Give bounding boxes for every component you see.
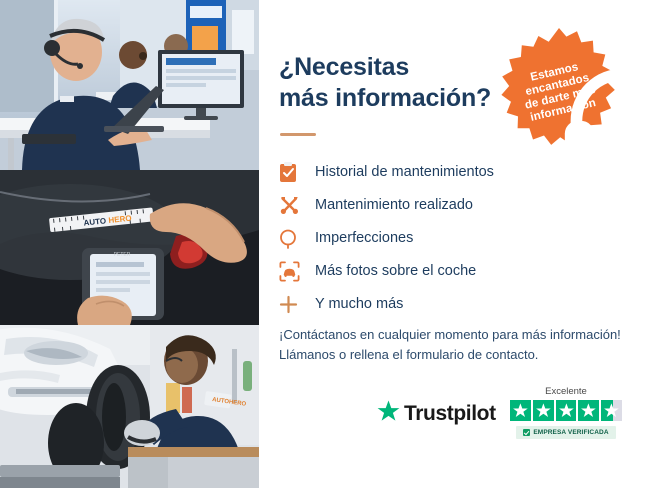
feature-label: Imperfecciones <box>315 231 413 246</box>
wrench-screwdriver-icon <box>279 195 315 216</box>
star-filled <box>578 400 599 421</box>
mechanic-wheel-photo: AUTOHERO <box>0 325 259 488</box>
support-badge: Estamos encantados de darte más informac… <box>495 26 623 154</box>
inspection-illustration: AUTO HERO PETER <box>0 170 259 325</box>
verified-check-icon <box>523 429 530 436</box>
trustpilot-widget[interactable]: Trustpilot Excelente <box>377 386 632 448</box>
feature-label: Más fotos sobre el coche <box>315 264 476 279</box>
car-inspection-ruler-photo: AUTO HERO PETER <box>0 170 259 325</box>
feature-item-mantenimiento: Mantenimiento realizado <box>279 189 569 222</box>
feature-list: Historial de mantenimientos M <box>279 156 569 321</box>
verified-business-label: EMPRESA VERIFICADA <box>533 429 608 436</box>
page-title: ¿Necesitas más información? <box>279 52 529 113</box>
feature-item-historial: Historial de mantenimientos <box>279 156 569 189</box>
trustpilot-rating: Excelente <box>501 386 631 439</box>
feature-item-mas: Y mucho más <box>279 288 569 321</box>
trustpilot-rating-label: Excelente <box>510 386 622 397</box>
mechanic-illustration: AUTOHERO <box>0 325 259 488</box>
call-center-agents-photo <box>0 0 259 170</box>
star-filled <box>533 400 554 421</box>
page-title-line2: más información? <box>279 83 529 114</box>
feature-label: Historial de mantenimientos <box>315 165 494 180</box>
plus-icon <box>279 295 315 314</box>
svg-text:PETER: PETER <box>114 252 131 258</box>
feature-label: Y mucho más <box>315 297 403 312</box>
contact-paragraph-line1: ¡Contáctanos en cualquier momento para m… <box>279 325 639 345</box>
content-panel: ¿Necesitas más información? Estamos enca… <box>259 0 650 488</box>
star-half <box>601 400 622 421</box>
title-divider <box>280 133 316 136</box>
magnifier-icon <box>279 229 315 249</box>
contact-paragraph-line2: Llámanos o rellena el formulario de cont… <box>279 345 639 365</box>
feature-item-fotos: Más fotos sobre el coche <box>279 255 569 288</box>
contact-paragraph: ¡Contáctanos en cualquier momento para m… <box>279 325 639 365</box>
clipboard-check-icon <box>279 162 315 183</box>
feature-label: Mantenimiento realizado <box>315 198 473 213</box>
verified-business-badge: EMPRESA VERIFICADA <box>516 426 616 439</box>
feature-item-imperfecciones: Imperfecciones <box>279 222 569 255</box>
promo-card: AUTO HERO PETER <box>0 0 650 488</box>
call-center-illustration <box>0 0 259 170</box>
trustpilot-wordmark: Trustpilot <box>404 402 496 426</box>
trustpilot-logo: Trustpilot <box>377 400 496 427</box>
trustpilot-star-icon <box>377 400 400 427</box>
star-filled <box>510 400 531 421</box>
page-title-line1: ¿Necesitas <box>279 52 529 83</box>
star-filled <box>556 400 577 421</box>
car-scan-icon <box>279 261 315 282</box>
trustpilot-stars <box>510 400 622 421</box>
photo-column: AUTO HERO PETER <box>0 0 259 488</box>
